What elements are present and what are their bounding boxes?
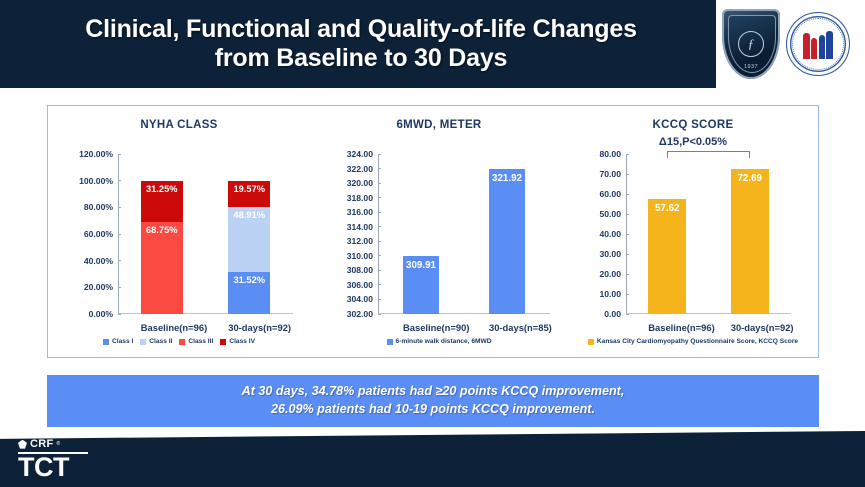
legend-swatch [220,339,226,345]
y-axis-tick-label: 310.00 [347,251,378,261]
y-axis-tick-label: 322.00 [347,164,378,174]
bar-value-label: 309.91 [403,260,439,271]
slide-footer: CRF ® TCT [0,431,865,487]
bar-2: 31.52%48.91%19.57% [228,181,270,314]
chart-title-6mwd: 6MWD, METER [310,119,568,131]
y-axis-tick-label: 20.00 [599,269,626,279]
legend-swatch [588,339,594,345]
institution-circular-logo [786,12,850,76]
legend-item: Class I [103,338,133,345]
y-axis-tick-label: 302.00 [347,309,378,319]
legend-swatch [387,339,393,345]
legend-kccq: Kansas City Cardiomyopathy Questionnaire… [568,338,818,345]
y-axis-line [378,154,379,314]
page-title-line1: Clinical, Functional and Quality-of-life… [85,15,637,45]
y-axis-tick-label: 60.00 [599,189,626,199]
y-axis-tick-label: 120.00% [79,149,118,159]
conclusion-banner: At 30 days, 34.78% patients had ≥20 poin… [47,375,819,427]
y-axis-tick-label: 100.00% [79,176,118,186]
y-axis-tick-label: 70.00 [599,169,626,179]
y-axis-tick-label: 318.00 [347,193,378,203]
legend-item: Kansas City Cardiomyopathy Questionnaire… [588,338,798,345]
y-axis-tick-label: 20.00% [84,282,118,292]
x-axis-category-label: Baseline(n=96) [141,322,183,333]
y-axis-tick-label: 312.00 [347,236,378,246]
y-axis-tick-label: 306.00 [347,280,378,290]
bar-value-label: 72.69 [731,173,769,184]
y-axis-tick-label: 0.00% [89,309,118,319]
bar-1: 57.62 [648,199,686,314]
x-axis-category-label: 30-days(n=85) [489,322,525,333]
y-axis-tick-label: 304.00 [347,294,378,304]
kccq-delta-annotation: Δ15,P<0.05% [568,136,818,148]
y-axis-tick-label: 40.00% [84,256,118,266]
significance-bracket [667,151,750,158]
shield-year-label: 1937 [722,64,780,70]
footer-banner-shape [0,431,865,487]
y-axis-tick-label: 60.00% [84,229,118,239]
bar-2: 321.92 [489,169,525,314]
registered-mark-icon: ® [57,441,61,447]
page-title: Clinical, Functional and Quality-of-life… [71,15,651,74]
chart-kccq-score: KCCQ SCORE Δ15,P<0.05% 0.0010.0020.0030.… [568,106,818,357]
plot-area-kccq: 0.0010.0020.0030.0040.0050.0060.0070.008… [626,154,791,314]
bar-segment: 68.75% [141,222,183,314]
x-axis-category-label: Baseline(n=90) [403,322,439,333]
chart-title-kccq: KCCQ SCORE [568,119,818,131]
bar-segment: 31.25% [141,181,183,223]
logo-area: ƒ 1937 [716,0,865,88]
bar-segment: 48.91% [228,207,270,272]
bar-1: 68.75%31.25% [141,181,183,314]
legend-label: 6-minute walk distance, 6MWD [396,338,492,345]
y-axis-tick-label: 80.00 [599,149,626,159]
bar-value-label: 321.92 [489,173,525,184]
legend-nyha: Class IClass IIClass IIIClass IV [48,338,310,345]
y-axis-tick-label: 324.00 [347,149,378,159]
legend-item: Class II [140,338,172,345]
legend-label: Class IV [229,338,255,345]
emblem-figure-icon [801,29,835,59]
legend-label: Kansas City Cardiomyopathy Questionnaire… [597,338,798,345]
crf-tct-logo: CRF ® TCT [18,438,88,480]
slide-header: Clinical, Functional and Quality-of-life… [0,0,722,88]
chart-title-nyha: NYHA CLASS [48,119,310,131]
crf-logo-row: CRF ® [18,438,88,450]
y-axis-tick-label: 80.00% [84,202,118,212]
legend-swatch [179,339,185,345]
chart-6mwd: 6MWD, METER 302.00304.00306.00308.00310.… [310,106,568,357]
chart-nyha-class: NYHA CLASS 0.00%20.00%40.00%60.00%80.00%… [48,106,310,357]
plot-area-6mwd: 302.00304.00306.00308.00310.00312.00314.… [378,154,550,314]
y-axis-tick-label: 40.00 [599,229,626,239]
plot-area-nyha: 0.00%20.00%40.00%60.00%80.00%100.00%120.… [118,154,293,314]
crf-label: CRF [30,438,54,450]
y-axis-tick-label: 50.00 [599,209,626,219]
conclusion-text: At 30 days, 34.78% patients had ≥20 poin… [242,383,625,419]
y-axis-tick-label: 308.00 [347,265,378,275]
charts-panel: NYHA CLASS 0.00%20.00%40.00%60.00%80.00%… [47,105,819,358]
legend-item: 6-minute walk distance, 6MWD [387,338,492,345]
y-axis-tick-label: 30.00 [599,249,626,259]
y-axis-tick-label: 314.00 [347,222,378,232]
legend-label: Class III [188,338,213,345]
conclusion-line2: 26.09% patients had 10-19 points KCCQ im… [242,401,625,419]
y-axis-tick-label: 10.00 [599,289,626,299]
conclusion-line1: At 30 days, 34.78% patients had ≥20 poin… [242,383,625,401]
x-axis-category-label: Baseline(n=96) [648,322,686,333]
institution-shield-logo: ƒ 1937 [722,9,780,79]
shield-monogram-icon: ƒ [738,31,764,57]
x-axis-category-label: 30-days(n=92) [228,322,270,333]
y-axis-tick-label: 320.00 [347,178,378,188]
bar-value-label: 57.62 [648,203,686,214]
x-axis-category-label: 30-days(n=92) [731,322,769,333]
bar-2: 72.69 [731,169,769,314]
legend-item: Class IV [220,338,255,345]
legend-item: Class III [179,338,213,345]
bar-1: 309.91 [403,256,439,314]
legend-label: Class I [112,338,133,345]
y-axis-tick-label: 0.00 [604,309,626,319]
bar-segment: 19.57% [228,181,270,207]
y-axis-tick-label: 316.00 [347,207,378,217]
legend-swatch [103,339,109,345]
legend-6mwd: 6-minute walk distance, 6MWD [310,338,568,345]
crf-diamond-icon [18,440,27,449]
page-title-line2: from Baseline to 30 Days [85,44,637,74]
bar-segment: 31.52% [228,272,270,314]
legend-label: Class II [149,338,172,345]
legend-swatch [140,339,146,345]
tct-label: TCT [18,455,88,480]
